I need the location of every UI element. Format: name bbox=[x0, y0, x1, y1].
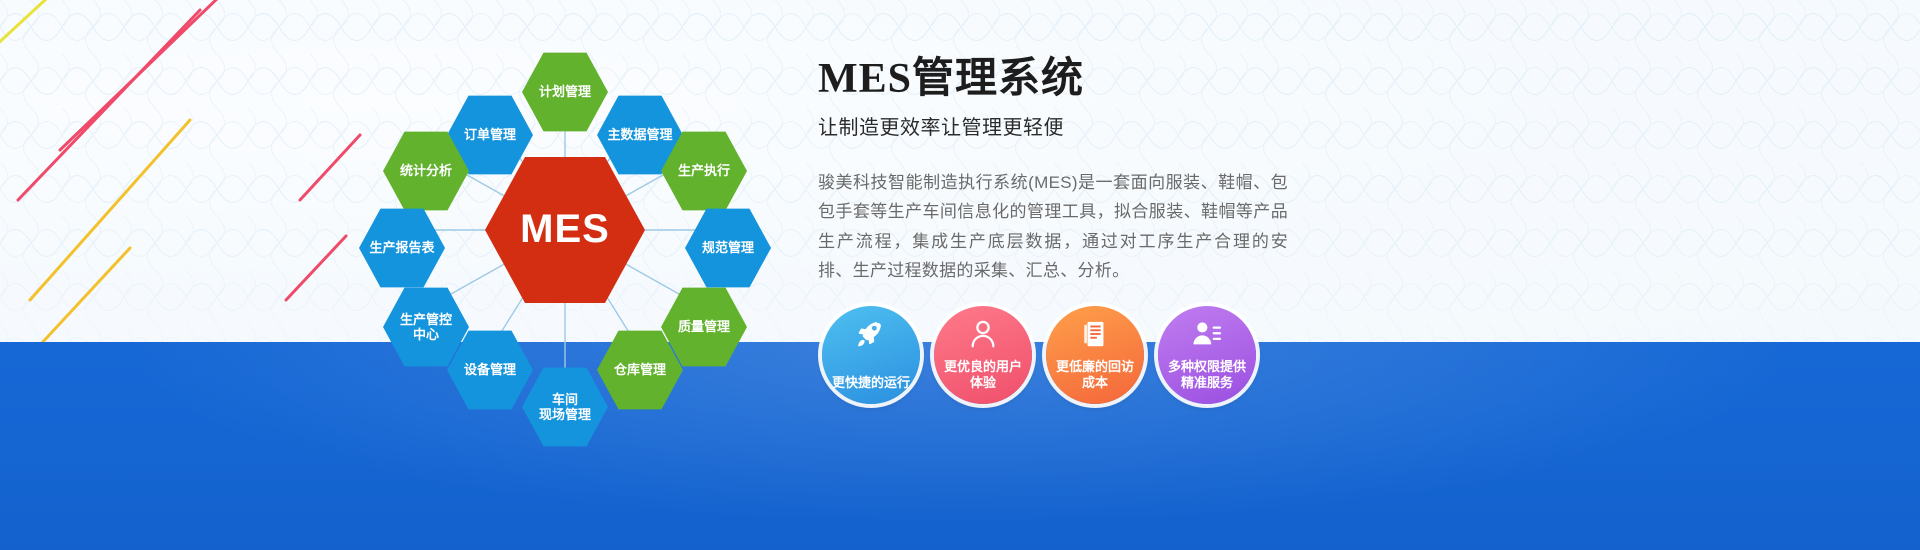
hex-label: 质量管理 bbox=[672, 319, 736, 334]
page-subtitle: 让制造更效率让管理更轻便 bbox=[818, 111, 1288, 140]
badge-multi-permission-service[interactable]: 多种权限提供精准服务 bbox=[1158, 306, 1256, 404]
page-title: MES管理系统 bbox=[818, 56, 1288, 102]
hex-label: 车间现场管理 bbox=[533, 392, 597, 423]
badge-label: 更低廉的回访成本 bbox=[1053, 359, 1137, 392]
hex-label: 主数据管理 bbox=[601, 127, 678, 142]
description-paragraph: 骏美科技智能制造执行系统(MES)是一套面向服装、鞋帽、包包手套等生产车间信息化… bbox=[818, 168, 1288, 285]
content-panel: MES管理系统 让制造更效率让管理更轻便 骏美科技智能制造执行系统(MES)是一… bbox=[818, 56, 1288, 285]
permissions-icon bbox=[1192, 319, 1222, 349]
badge-label: 更优良的用户体验 bbox=[941, 359, 1025, 392]
mes-hexagon-diagram: 计划管理 订单管理 主数据管理 统计分析 生产执行 生产报告表 规范管理 生产管… bbox=[330, 20, 800, 440]
rocket-icon bbox=[856, 319, 886, 349]
hex-label: 仓库管理 bbox=[608, 362, 672, 377]
document-icon bbox=[1080, 319, 1110, 349]
badge-better-user-experience[interactable]: 更优良的用户体验 bbox=[934, 306, 1032, 404]
feature-badges: 更快捷的运行 更优良的用户体验 更低廉的回访成本 bbox=[822, 306, 1256, 404]
hex-center-label: MES bbox=[514, 206, 616, 253]
hex-label: 订单管理 bbox=[458, 127, 522, 142]
hex-label: 规范管理 bbox=[696, 240, 760, 255]
hex-label: 生产报告表 bbox=[363, 240, 440, 255]
description-text: 骏美科技智能制造执行系统(MES)是一套面向服装、鞋帽、包包手套等生产车间信息化… bbox=[818, 168, 1288, 285]
hex-label: 生产执行 bbox=[672, 163, 736, 178]
hex-label: 生产管控中心 bbox=[394, 312, 458, 343]
hex-label: 计划管理 bbox=[533, 84, 597, 99]
badge-lower-revisit-cost[interactable]: 更低廉的回访成本 bbox=[1046, 306, 1144, 404]
mes-banner: 计划管理 订单管理 主数据管理 统计分析 生产执行 生产报告表 规范管理 生产管… bbox=[0, 0, 1920, 550]
badge-label: 多种权限提供精准服务 bbox=[1165, 359, 1249, 392]
hex-label: 统计分析 bbox=[394, 163, 458, 178]
hex-label: 设备管理 bbox=[458, 362, 522, 377]
user-icon bbox=[968, 319, 998, 349]
badge-label: 更快捷的运行 bbox=[829, 375, 913, 392]
badge-faster-operation[interactable]: 更快捷的运行 bbox=[822, 306, 920, 404]
